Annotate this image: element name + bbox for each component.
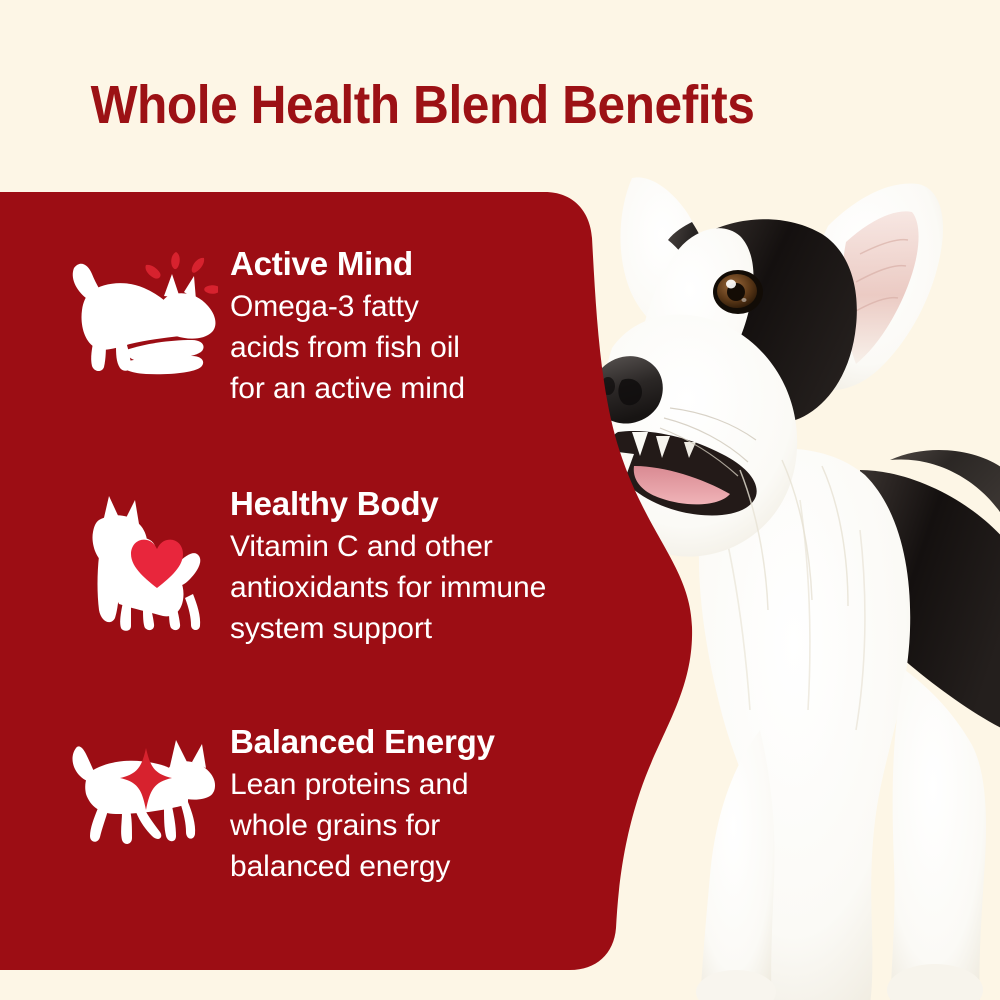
- benefit-heading: Balanced Energy: [230, 722, 655, 762]
- benefit-text-block: Balanced Energy Lean proteins and whole …: [230, 722, 655, 887]
- dog-standing-heart-icon: [55, 484, 230, 632]
- dog-trotting-star-icon: [55, 722, 230, 850]
- benefit-body: Vitamin C and other antioxidants for imm…: [230, 526, 655, 649]
- benefit-text-block: Active Mind Omega-3 fatty acids from fis…: [230, 244, 655, 409]
- benefit-heading: Active Mind: [230, 244, 655, 284]
- benefit-text-block: Healthy Body Vitamin C and other antioxi…: [230, 484, 655, 649]
- benefit-item-balanced-energy: Balanced Energy Lean proteins and whole …: [55, 722, 655, 887]
- dog-play-bow-sparkle-icon: [55, 244, 230, 377]
- benefits-panel: Active Mind Omega-3 fatty acids from fis…: [0, 192, 700, 970]
- benefit-heading: Healthy Body: [230, 484, 655, 524]
- benefit-body: Lean proteins and whole grains for balan…: [230, 764, 655, 887]
- benefit-item-healthy-body: Healthy Body Vitamin C and other antioxi…: [55, 484, 655, 649]
- poster-canvas: Active Mind Omega-3 fatty acids from fis…: [0, 0, 1000, 1000]
- benefits-list: Active Mind Omega-3 fatty acids from fis…: [0, 192, 700, 970]
- page-title: Whole Health Blend Benefits: [34, 74, 811, 136]
- benefit-item-active-mind: Active Mind Omega-3 fatty acids from fis…: [55, 244, 655, 409]
- benefit-body: Omega-3 fatty acids from fish oil for an…: [230, 286, 655, 409]
